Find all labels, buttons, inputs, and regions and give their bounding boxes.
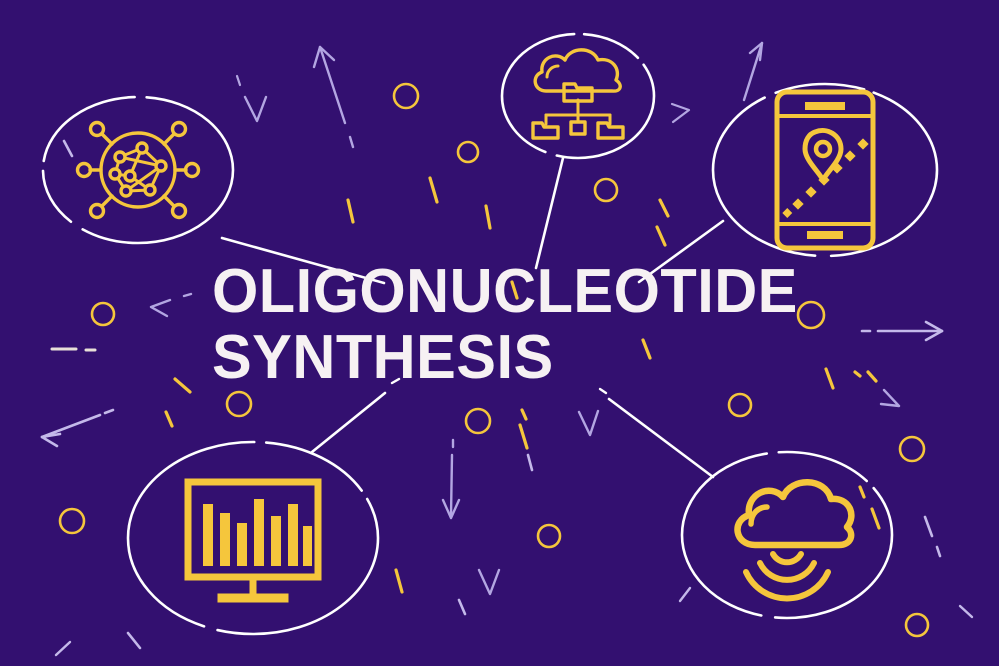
chart-bar (303, 526, 312, 566)
background-rect (0, 0, 999, 666)
phone-speaker (805, 102, 845, 110)
chart-bar (237, 523, 247, 566)
chart-bar (254, 499, 264, 566)
phone-home-button (807, 231, 843, 239)
background-graphics (0, 0, 999, 666)
chart-bar (220, 513, 230, 566)
decor-dash-group-white (52, 349, 95, 350)
chart-bar (271, 516, 281, 566)
chart-bar (203, 504, 213, 566)
chart-bar (288, 504, 298, 566)
illustration-canvas: OLIGONUCLEOTIDE SYNTHESIS (0, 0, 999, 666)
